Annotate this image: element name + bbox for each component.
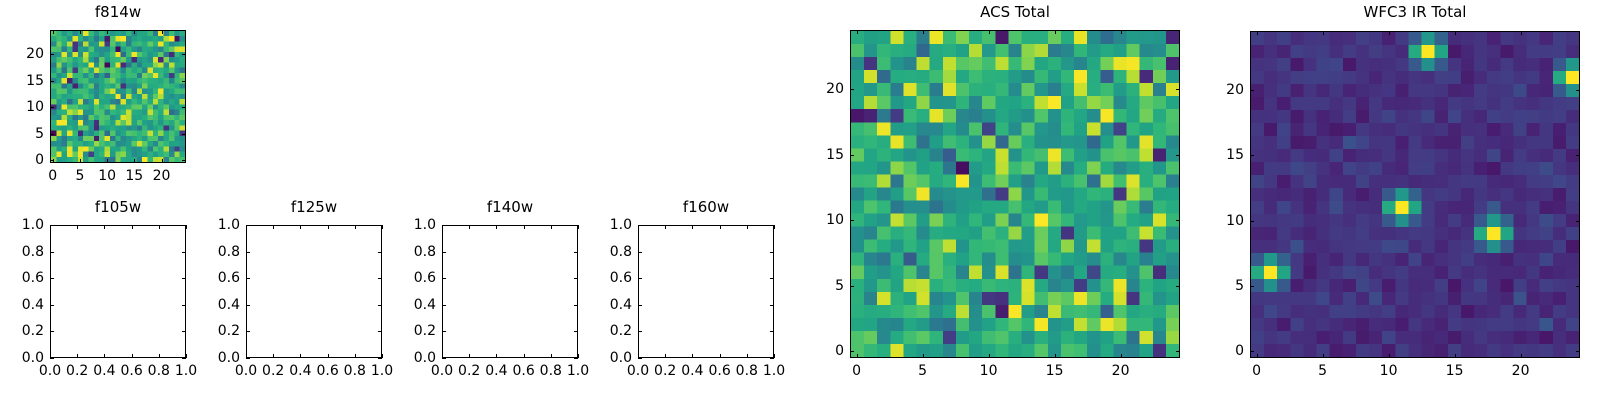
xtick-f814w [162,159,163,163]
ytick-f125w [246,225,250,226]
ytick-wfc3_ir_total [1576,155,1580,156]
axes-f160w[interactable] [638,225,774,358]
ytick-f105w [182,305,186,306]
heatmap-image-acs_total [851,31,1179,357]
ytick-label-acs_total: 10 [792,213,844,227]
xtick-f160w [692,225,693,229]
ytick-acs_total [1176,155,1180,156]
xtick-acs_total [857,30,858,34]
xtick-label-wfc3_ir_total: 15 [1446,364,1464,378]
ytick-f105w [182,331,186,332]
ytick-label-f125w: 0.8 [188,245,240,259]
ytick-label-f140w: 0.6 [384,271,436,285]
ytick-acs_total [1176,89,1180,90]
xtick-acs_total [1055,354,1056,358]
xtick-f160w [692,354,693,358]
xtick-label-f140w: 0.4 [485,364,507,378]
ytick-f814w [182,107,186,108]
ytick-label-f125w: 0.2 [188,324,240,338]
xtick-label-f125w: 0.0 [235,364,257,378]
ytick-label-f160w: 0.8 [580,245,632,259]
ytick-f140w [442,278,446,279]
xtick-f160w [747,225,748,229]
ytick-wfc3_ir_total [1576,90,1580,91]
xtick-f105w [104,225,105,229]
ytick-acs_total [850,89,854,90]
ytick-wfc3_ir_total [1576,351,1580,352]
ytick-label-wfc3_ir_total: 20 [1192,83,1244,97]
xtick-f140w [469,225,470,229]
xtick-acs_total [1055,30,1056,34]
ytick-label-wfc3_ir_total: 5 [1192,279,1244,293]
xtick-f125w [300,354,301,358]
xtick-f814w [107,159,108,163]
ytick-f140w [442,252,446,253]
xtick-label-f160w: 0.0 [627,364,649,378]
ytick-label-f814w: 20 [0,47,44,61]
ytick-f160w [638,305,642,306]
ytick-f814w [182,134,186,135]
xtick-label-acs_total: 5 [918,364,927,378]
ytick-f125w [246,252,250,253]
ytick-f125w [246,358,250,359]
ytick-f160w [770,252,774,253]
ytick-f140w [574,331,578,332]
xtick-f160w [720,225,721,229]
ytick-f105w [50,252,54,253]
xtick-label-f140w: 0.0 [431,364,453,378]
xtick-f125w [355,354,356,358]
ytick-label-f140w: 0.0 [384,351,436,365]
xtick-f125w [382,354,383,358]
ytick-f125w [246,331,250,332]
xtick-label-f125w: 1.0 [371,364,393,378]
xtick-f105w [104,354,105,358]
xtick-acs_total [989,30,990,34]
xtick-label-f105w: 0.4 [93,364,115,378]
ytick-label-f105w: 0.0 [0,351,44,365]
xtick-f814w [53,30,54,34]
xtick-label-wfc3_ir_total: 5 [1318,364,1327,378]
xtick-label-f160w: 1.0 [763,364,785,378]
ytick-wfc3_ir_total [1250,286,1254,287]
xtick-label-f814w: 20 [153,169,171,183]
ytick-f105w [50,331,54,332]
xtick-f140w [469,354,470,358]
axes-f105w[interactable] [50,225,186,358]
xtick-label-f814w: 0 [48,169,57,183]
xtick-label-f125w: 0.4 [289,364,311,378]
ytick-label-f140w: 0.4 [384,298,436,312]
ytick-acs_total [850,220,854,221]
xtick-wfc3_ir_total [1257,354,1258,358]
ytick-f105w [50,278,54,279]
xtick-wfc3_ir_total [1389,31,1390,35]
ytick-wfc3_ir_total [1250,155,1254,156]
panel-title-f160w: f160w [588,200,824,215]
axes-f125w[interactable] [246,225,382,358]
ytick-f105w [182,225,186,226]
xtick-label-acs_total: 15 [1046,364,1064,378]
ytick-wfc3_ir_total [1250,351,1254,352]
ytick-f140w [574,305,578,306]
xtick-label-f125w: 0.6 [316,364,338,378]
ytick-f814w [182,81,186,82]
xtick-f140w [496,225,497,229]
ytick-f125w [378,305,382,306]
ytick-label-f160w: 1.0 [580,218,632,232]
xtick-f125w [273,354,274,358]
xtick-f140w [524,354,525,358]
xtick-label-f125w: 0.8 [344,364,366,378]
xtick-label-f814w: 5 [75,169,84,183]
ytick-label-wfc3_ir_total: 10 [1192,214,1244,228]
ytick-f160w [770,278,774,279]
ytick-f125w [378,225,382,226]
xtick-acs_total [989,354,990,358]
xtick-label-f814w: 15 [125,169,143,183]
ytick-f814w [50,107,54,108]
ytick-label-f125w: 1.0 [188,218,240,232]
ytick-f125w [378,252,382,253]
ytick-f814w [50,81,54,82]
xtick-f105w [77,354,78,358]
xtick-f140w [578,225,579,229]
xtick-label-f105w: 1.0 [175,364,197,378]
ytick-f105w [182,278,186,279]
xtick-label-acs_total: 0 [852,364,861,378]
xtick-acs_total [923,354,924,358]
xtick-f125w [300,225,301,229]
ytick-label-f140w: 0.8 [384,245,436,259]
xtick-f125w [382,225,383,229]
ytick-label-wfc3_ir_total: 0 [1192,344,1244,358]
xtick-f125w [328,354,329,358]
xtick-f814w [80,30,81,34]
ytick-f160w [638,278,642,279]
ytick-acs_total [1176,351,1180,352]
ytick-f140w [574,252,578,253]
xtick-f160w [774,354,775,358]
axes-acs_total[interactable] [850,30,1180,358]
xtick-f125w [273,225,274,229]
xtick-f105w [132,354,133,358]
xtick-label-f125w: 0.2 [262,364,284,378]
ytick-acs_total [850,286,854,287]
ytick-f160w [770,331,774,332]
xtick-f140w [496,354,497,358]
ytick-f814w [182,160,186,161]
heatmap-image-f814w [51,31,185,162]
heatmap-image-wfc3_ir_total [1251,32,1579,357]
ytick-f140w [442,225,446,226]
xtick-f105w [159,354,160,358]
ytick-label-f105w: 0.2 [0,324,44,338]
ytick-f125w [378,331,382,332]
xtick-label-f140w: 1.0 [567,364,589,378]
xtick-label-f140w: 0.8 [540,364,562,378]
xtick-f814w [134,30,135,34]
ytick-f105w [50,305,54,306]
xtick-f140w [551,354,552,358]
ytick-acs_total [850,155,854,156]
xtick-label-f814w: 10 [98,169,116,183]
xtick-f160w [665,354,666,358]
ytick-f125w [378,278,382,279]
ytick-wfc3_ir_total [1250,221,1254,222]
xtick-f105w [132,225,133,229]
ytick-f160w [770,225,774,226]
ytick-f814w [50,134,54,135]
xtick-acs_total [857,354,858,358]
xtick-label-f105w: 0.8 [148,364,170,378]
xtick-label-f105w: 0.0 [39,364,61,378]
xtick-f105w [186,354,187,358]
ytick-label-f814w: 15 [0,74,44,88]
ytick-f140w [574,278,578,279]
ytick-f160w [638,331,642,332]
xtick-label-f160w: 0.6 [708,364,730,378]
ytick-label-f105w: 0.8 [0,245,44,259]
xtick-f125w [355,225,356,229]
xtick-f140w [578,354,579,358]
ytick-acs_total [1176,286,1180,287]
ytick-wfc3_ir_total [1576,286,1580,287]
xtick-f105w [159,225,160,229]
ytick-label-f140w: 0.2 [384,324,436,338]
ytick-label-f140w: 1.0 [384,218,436,232]
xtick-f814w [80,159,81,163]
xtick-f140w [551,225,552,229]
ytick-f814w [50,160,54,161]
xtick-label-acs_total: 10 [980,364,998,378]
axes-wfc3_ir_total[interactable] [1250,31,1580,358]
xtick-label-wfc3_ir_total: 0 [1252,364,1261,378]
xtick-label-f140w: 0.6 [512,364,534,378]
xtick-wfc3_ir_total [1521,354,1522,358]
ytick-label-f105w: 1.0 [0,218,44,232]
ytick-label-f814w: 10 [0,100,44,114]
xtick-wfc3_ir_total [1257,31,1258,35]
ytick-label-f814w: 5 [0,127,44,141]
ytick-wfc3_ir_total [1576,221,1580,222]
xtick-label-f160w: 0.4 [681,364,703,378]
xtick-f160w [747,354,748,358]
ytick-f140w [442,331,446,332]
xtick-label-wfc3_ir_total: 20 [1512,364,1530,378]
xtick-f160w [774,225,775,229]
ytick-wfc3_ir_total [1250,90,1254,91]
xtick-label-f105w: 0.6 [120,364,142,378]
xtick-f814w [162,30,163,34]
xtick-acs_total [1121,30,1122,34]
ytick-label-f160w: 0.4 [580,298,632,312]
xtick-label-f160w: 0.8 [736,364,758,378]
ytick-label-f125w: 0.0 [188,351,240,365]
ytick-f125w [246,305,250,306]
xtick-f814w [134,159,135,163]
xtick-label-f160w: 0.2 [654,364,676,378]
xtick-f814w [107,30,108,34]
xtick-acs_total [923,30,924,34]
ytick-f140w [574,358,578,359]
xtick-wfc3_ir_total [1389,354,1390,358]
ytick-acs_total [850,351,854,352]
ytick-f160w [638,358,642,359]
ytick-f160w [638,252,642,253]
axes-f814w[interactable] [50,30,186,163]
ytick-f140w [574,225,578,226]
xtick-f140w [524,225,525,229]
panel-title-acs_total: ACS Total [850,5,1180,20]
ytick-f160w [638,225,642,226]
ytick-f105w [50,225,54,226]
ytick-f125w [378,358,382,359]
ytick-f125w [246,278,250,279]
ytick-label-f125w: 0.4 [188,298,240,312]
ytick-label-f105w: 0.4 [0,298,44,312]
xtick-label-acs_total: 20 [1112,364,1130,378]
xtick-label-f105w: 0.2 [66,364,88,378]
axes-f140w[interactable] [442,225,578,358]
xtick-acs_total [1121,354,1122,358]
xtick-wfc3_ir_total [1323,31,1324,35]
xtick-f105w [186,225,187,229]
xtick-f160w [665,225,666,229]
xtick-f160w [720,354,721,358]
ytick-label-f160w: 0.6 [580,271,632,285]
xtick-label-f140w: 0.2 [458,364,480,378]
ytick-label-acs_total: 0 [792,344,844,358]
panel-title-f814w: f814w [0,5,236,20]
ytick-f105w [182,358,186,359]
panel-title-wfc3_ir_total: WFC3 IR Total [1250,5,1580,20]
xtick-wfc3_ir_total [1455,354,1456,358]
ytick-label-acs_total: 20 [792,82,844,96]
ytick-f160w [770,305,774,306]
ytick-f105w [182,252,186,253]
ytick-f814w [50,54,54,55]
ytick-label-f105w: 0.6 [0,271,44,285]
ytick-label-f160w: 0.2 [580,324,632,338]
xtick-f125w [328,225,329,229]
ytick-f140w [442,358,446,359]
ytick-label-acs_total: 5 [792,279,844,293]
xtick-wfc3_ir_total [1323,354,1324,358]
ytick-label-f125w: 0.6 [188,271,240,285]
ytick-acs_total [1176,220,1180,221]
ytick-f140w [442,305,446,306]
ytick-f814w [182,54,186,55]
xtick-wfc3_ir_total [1521,31,1522,35]
ytick-f105w [50,358,54,359]
ytick-label-acs_total: 15 [792,148,844,162]
ytick-f160w [770,358,774,359]
xtick-label-wfc3_ir_total: 10 [1380,364,1398,378]
ytick-label-f814w: 0 [0,153,44,167]
xtick-f105w [77,225,78,229]
ytick-label-f160w: 0.0 [580,351,632,365]
ytick-label-wfc3_ir_total: 15 [1192,148,1244,162]
xtick-wfc3_ir_total [1455,31,1456,35]
